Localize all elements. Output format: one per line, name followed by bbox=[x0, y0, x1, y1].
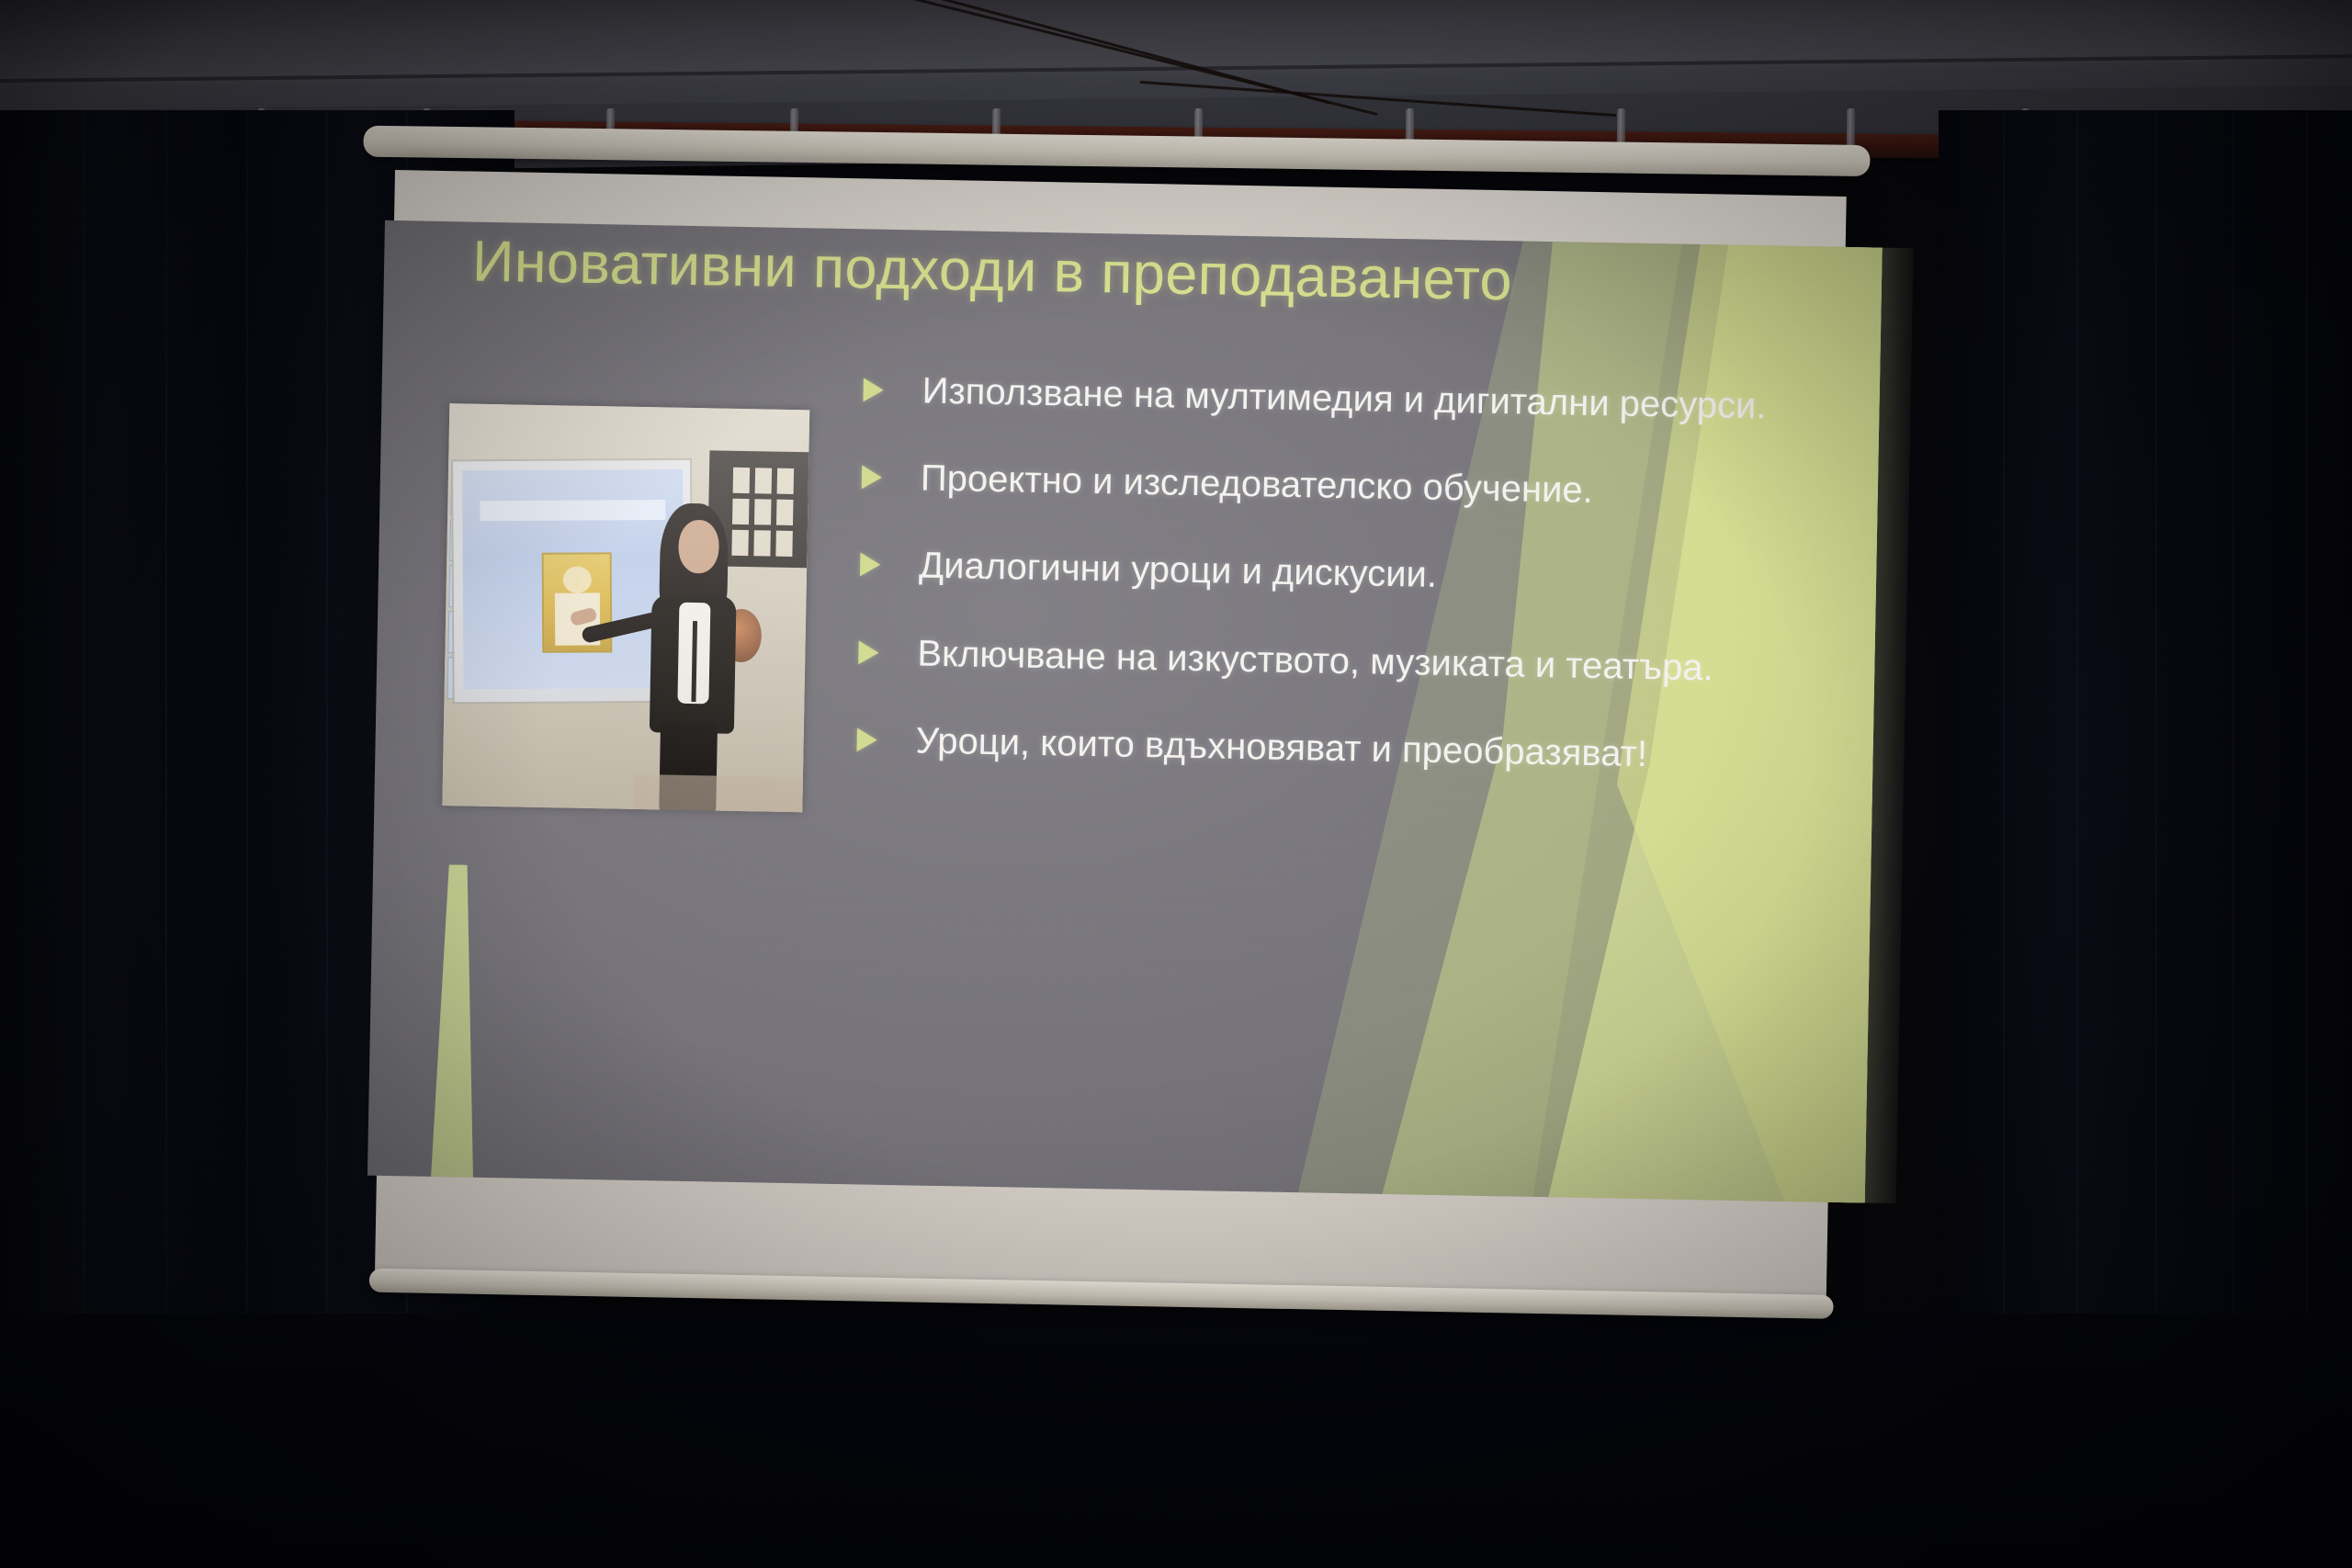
classroom-photo bbox=[442, 403, 809, 812]
slide-bullet-list: Използване на мултимедия и дигитални рес… bbox=[842, 367, 1779, 820]
bullet-item: Уроци, които вдъхновяват и преобразяват! bbox=[843, 716, 1772, 781]
bullet-item: Проектно и изследователско обучение. bbox=[848, 454, 1777, 518]
triangle-right-icon bbox=[862, 466, 882, 490]
decor-wedge-left bbox=[426, 864, 481, 1203]
photo-projection-haze bbox=[442, 403, 809, 812]
bullet-item: Включване на изкуството, музиката и теат… bbox=[845, 629, 1774, 694]
bullet-text: Проектно и изследователско обучение. bbox=[921, 458, 1594, 511]
bullet-item: Диалогични уроци и дискусии. bbox=[847, 541, 1776, 605]
auditorium-room: Иновативни подходи в преподаването bbox=[0, 0, 2352, 1568]
screen-fabric: Иновативни подходи в преподаването bbox=[375, 170, 1847, 1299]
projection-screen: Иновативни подходи в преподаването bbox=[374, 170, 1994, 1375]
bullet-text: Уроци, които вдъхновяват и преобразяват! bbox=[915, 720, 1647, 774]
triangle-right-icon bbox=[860, 553, 880, 577]
triangle-right-icon bbox=[858, 640, 878, 664]
bullet-text: Диалогични уроци и дискусии. bbox=[919, 546, 1438, 595]
presentation-slide: Иновативни подходи в преподаването bbox=[367, 220, 1883, 1203]
rail-hook bbox=[1847, 108, 1855, 149]
triangle-right-icon bbox=[856, 728, 876, 751]
bullet-text: Включване на изкуството, музиката и теат… bbox=[917, 633, 1713, 688]
triangle-right-icon bbox=[863, 378, 883, 401]
